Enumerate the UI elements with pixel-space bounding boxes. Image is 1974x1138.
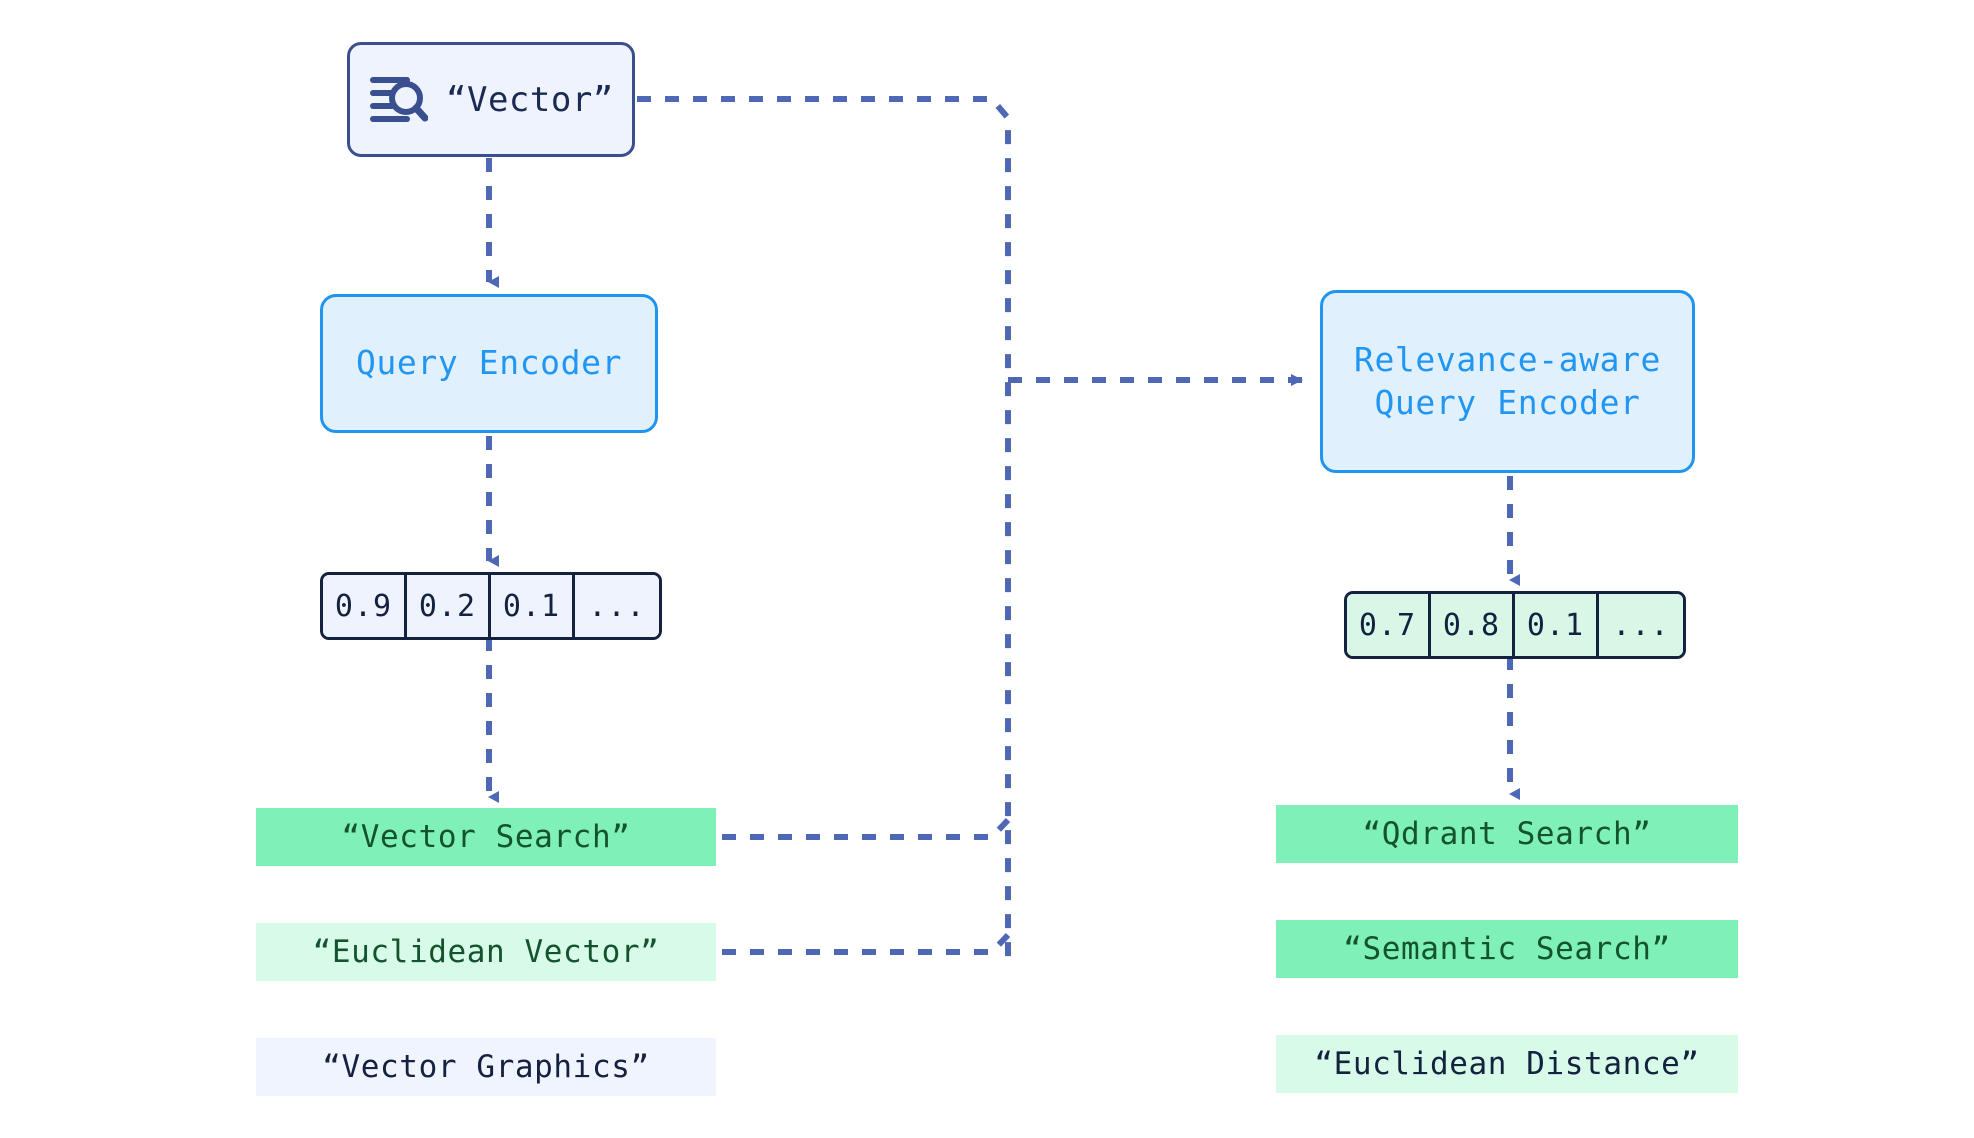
- query-text: “Vector”: [446, 80, 614, 120]
- result-chip-euclidean-distance[interactable]: “Euclidean Distance”: [1276, 1035, 1738, 1093]
- vector-cell: 0.1: [491, 575, 575, 637]
- vector-cell: 0.7: [1347, 594, 1431, 656]
- vector-cell: ...: [575, 575, 659, 637]
- query-box[interactable]: “Vector”: [347, 42, 635, 157]
- result-label: “Semantic Search”: [1343, 931, 1670, 967]
- result-label: “Vector Search”: [342, 819, 631, 855]
- relevance-aware-query-encoder-label: Relevance-aware Query Encoder: [1354, 339, 1661, 423]
- relevance-aware-query-encoder-box[interactable]: Relevance-aware Query Encoder: [1320, 290, 1695, 473]
- relevance-encoder-label-line1: Relevance-aware: [1354, 340, 1661, 379]
- result-chip-euclidean-vector[interactable]: “Euclidean Vector”: [256, 923, 716, 981]
- result-label: “Euclidean Distance”: [1314, 1046, 1699, 1082]
- result-chip-vector-graphics[interactable]: “Vector Graphics”: [256, 1038, 716, 1096]
- result-label: “Qdrant Search”: [1363, 816, 1652, 852]
- query-encoder-box[interactable]: Query Encoder: [320, 294, 658, 433]
- vector-cell: 0.9: [323, 575, 407, 637]
- query-encoder-label: Query Encoder: [356, 342, 622, 384]
- result-chip-qdrant-search[interactable]: “Qdrant Search”: [1276, 805, 1738, 863]
- result-label: “Euclidean Vector”: [313, 934, 660, 970]
- wire-euclidean-vector-to-bus: [722, 935, 1008, 952]
- list-search-icon: [370, 74, 428, 126]
- result-chip-semantic-search[interactable]: “Semantic Search”: [1276, 920, 1738, 978]
- left-vector-array: 0.9 0.2 0.1 ...: [320, 572, 662, 640]
- wire-vector-search-to-bus: [722, 820, 1008, 837]
- right-vector-array: 0.7 0.8 0.1 ...: [1344, 591, 1686, 659]
- relevance-encoder-label-line2: Query Encoder: [1374, 383, 1640, 422]
- result-chip-vector-search[interactable]: “Vector Search”: [256, 808, 716, 866]
- vector-cell: 0.8: [1431, 594, 1515, 656]
- vector-cell: 0.2: [407, 575, 491, 637]
- diagram-canvas: “Vector” Query Encoder Relevance-aware Q…: [0, 0, 1974, 1138]
- result-label: “Vector Graphics”: [322, 1049, 649, 1085]
- vector-cell: ...: [1599, 594, 1683, 656]
- vector-cell: 0.1: [1515, 594, 1599, 656]
